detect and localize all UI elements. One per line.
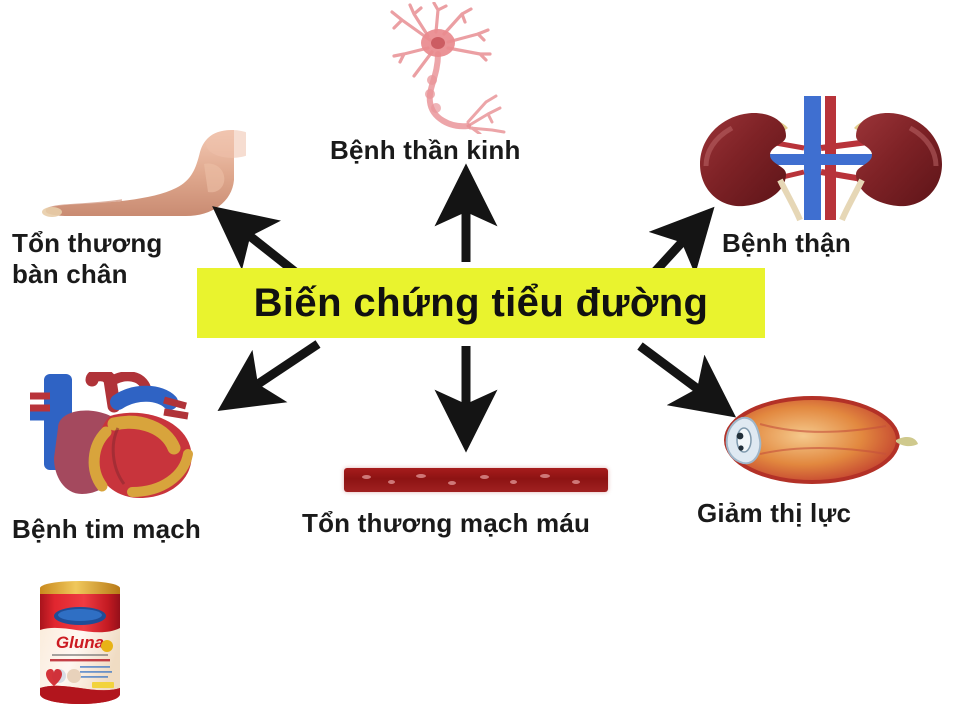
page-title: Biến chứng tiểu đường [254, 281, 709, 326]
label-blood-vessel-damage: Tổn thương mạch máu [302, 508, 590, 539]
label-nerve-disease: Bệnh thần kinh [330, 135, 521, 166]
label-vision-loss: Giảm thị lực [697, 498, 851, 529]
svg-text:Gluna: Gluna [56, 633, 104, 652]
label-foot-damage: Tổn thương bàn chân [12, 228, 162, 289]
label-kidney-disease: Bệnh thận [722, 228, 851, 259]
neuron-illustration [368, 2, 548, 134]
arrow-down-left [228, 344, 318, 404]
heart-illustration [14, 372, 226, 507]
blood-vessel-illustration [344, 468, 608, 492]
kidneys-illustration [692, 88, 950, 223]
label-cardiovascular-disease: Bệnh tim mạch [12, 514, 201, 545]
center-title-box: Biến chứng tiểu đường [197, 268, 765, 338]
footer-banner: Gluna SỮA DÀNH CHO NGƯỜI BỆNH TIỂU ĐƯỜNG… [0, 560, 960, 720]
foot-illustration [36, 128, 246, 233]
eye-illustration [700, 390, 918, 490]
diabetes-complications-infographic: Bệnh thần kinh Tổn thương bàn chân Bệnh … [0, 0, 960, 720]
product-can-gluna: Gluna [30, 578, 130, 706]
